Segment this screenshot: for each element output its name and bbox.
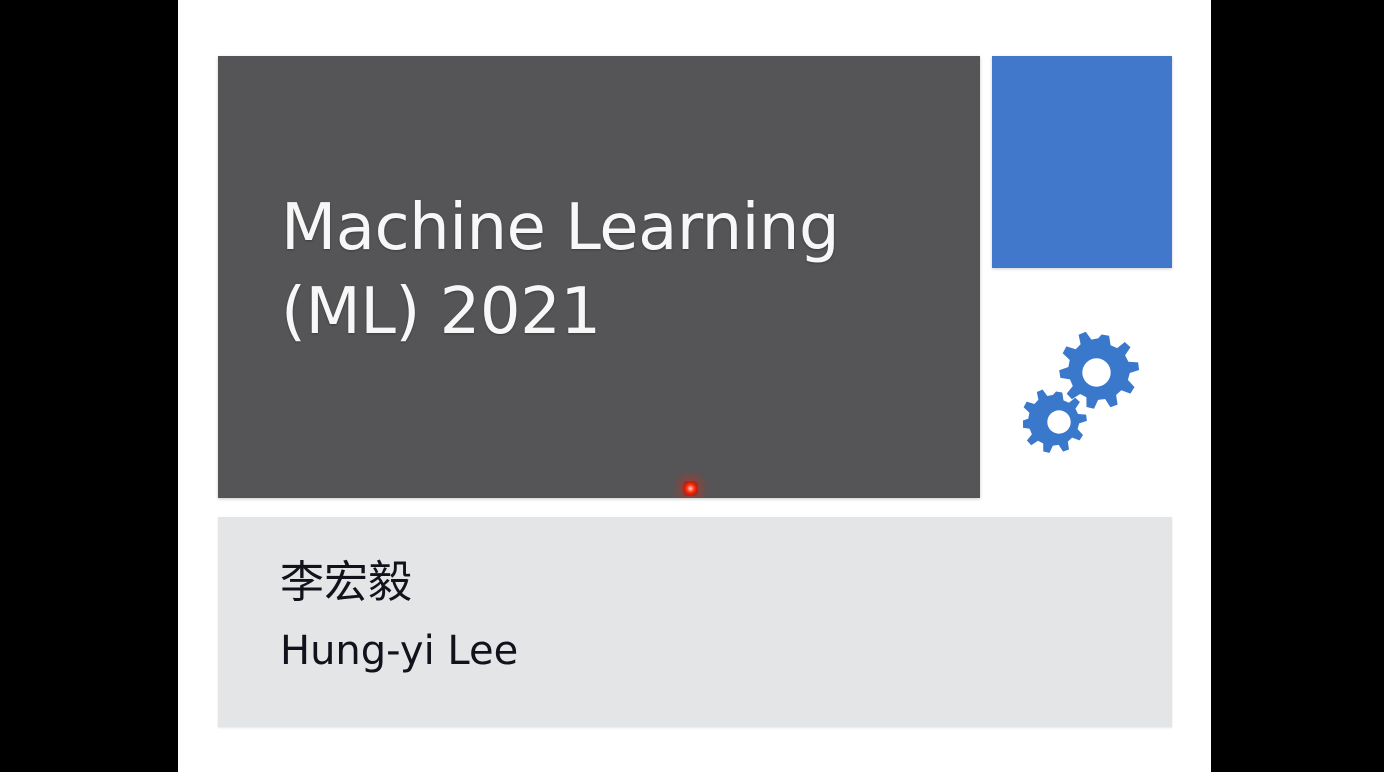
author-block: 李宏毅 Hung-yi Lee [280, 555, 518, 677]
slide-title-panel: Machine Learning (ML) 2021 [218, 56, 980, 498]
presentation-slide: Machine Learning (ML) 2021 [178, 0, 1211, 772]
slide-title: Machine Learning (ML) 2021 [281, 186, 941, 354]
video-player-frame: Machine Learning (ML) 2021 [0, 0, 1384, 772]
slide-title-line-2: (ML) 2021 [281, 270, 941, 354]
gears-icon [1023, 328, 1148, 456]
letterbox-bar-left [0, 0, 178, 772]
author-name-chinese: 李宏毅 [280, 555, 518, 611]
blue-rectangle-decoration [992, 56, 1172, 268]
laser-pointer-icon [683, 481, 698, 496]
author-name-english: Hung-yi Lee [280, 625, 518, 677]
slide-title-line-1: Machine Learning [281, 186, 941, 270]
slide-caption-box: 李宏毅 Hung-yi Lee [218, 517, 1172, 727]
letterbox-bar-right [1211, 0, 1384, 772]
